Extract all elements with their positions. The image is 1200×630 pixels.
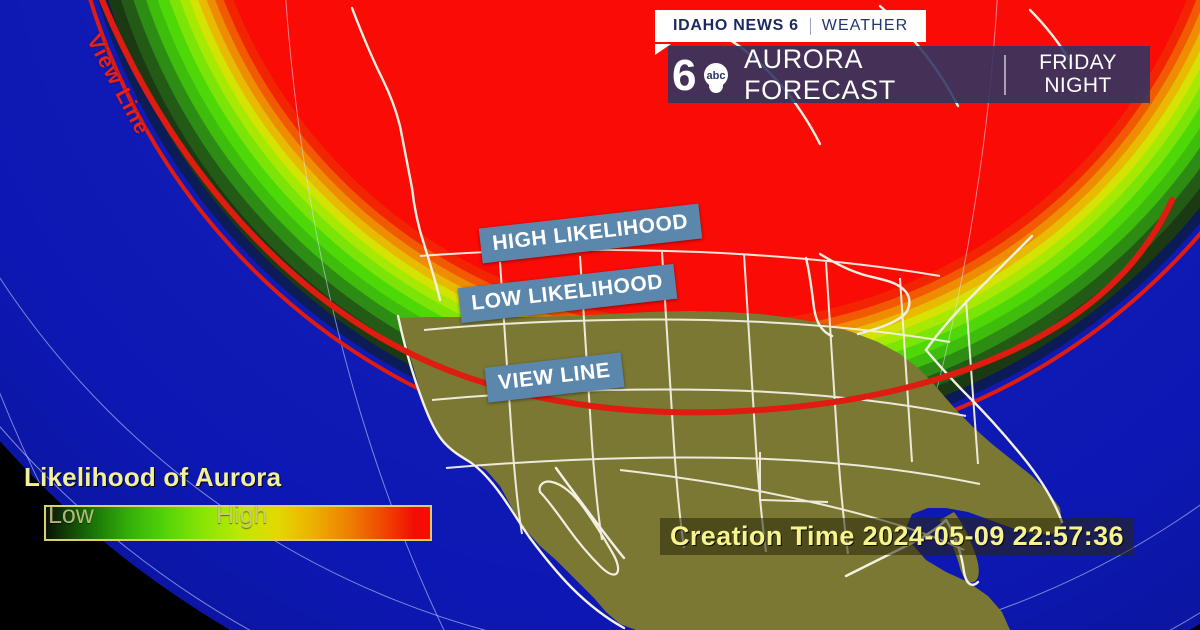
abc6-logo: 6 abc <box>668 46 740 103</box>
svg-text:6: 6 <box>672 53 696 97</box>
kicker-section-label: WEATHER <box>822 17 909 35</box>
legend-high-label: High <box>216 501 267 530</box>
banner-title-label: AURORA FORECAST <box>740 44 1004 106</box>
title-banner: 6 abc AURORA FORECAST FRIDAY NIGHT <box>668 46 1150 103</box>
kicker-bar: IDAHO NEWS 6 WEATHER <box>655 10 926 42</box>
banner-day-label: FRIDAY NIGHT <box>1006 52 1150 96</box>
kicker-divider <box>810 18 811 35</box>
kicker-station-label: IDAHO NEWS 6 <box>673 17 799 35</box>
legend-low-label: Low <box>48 501 94 530</box>
abc6-logo-mark: 6 abc <box>672 53 736 97</box>
svg-text:abc: abc <box>707 70 726 82</box>
legend-bar-wrap: Low High <box>44 505 432 541</box>
creation-time-stamp: Creation Time 2024-05-09 22:57:36 <box>660 518 1134 555</box>
banner-day-line2: NIGHT <box>1012 75 1144 97</box>
aurora-forecast-graphic: View Line HIGH LIKELIHOOD LOW LIKELIHOOD… <box>0 0 1200 630</box>
legend-title: Likelihood of Aurora <box>24 462 432 493</box>
banner-day-line1: FRIDAY <box>1012 52 1144 74</box>
legend: Likelihood of Aurora Low High <box>22 462 432 541</box>
